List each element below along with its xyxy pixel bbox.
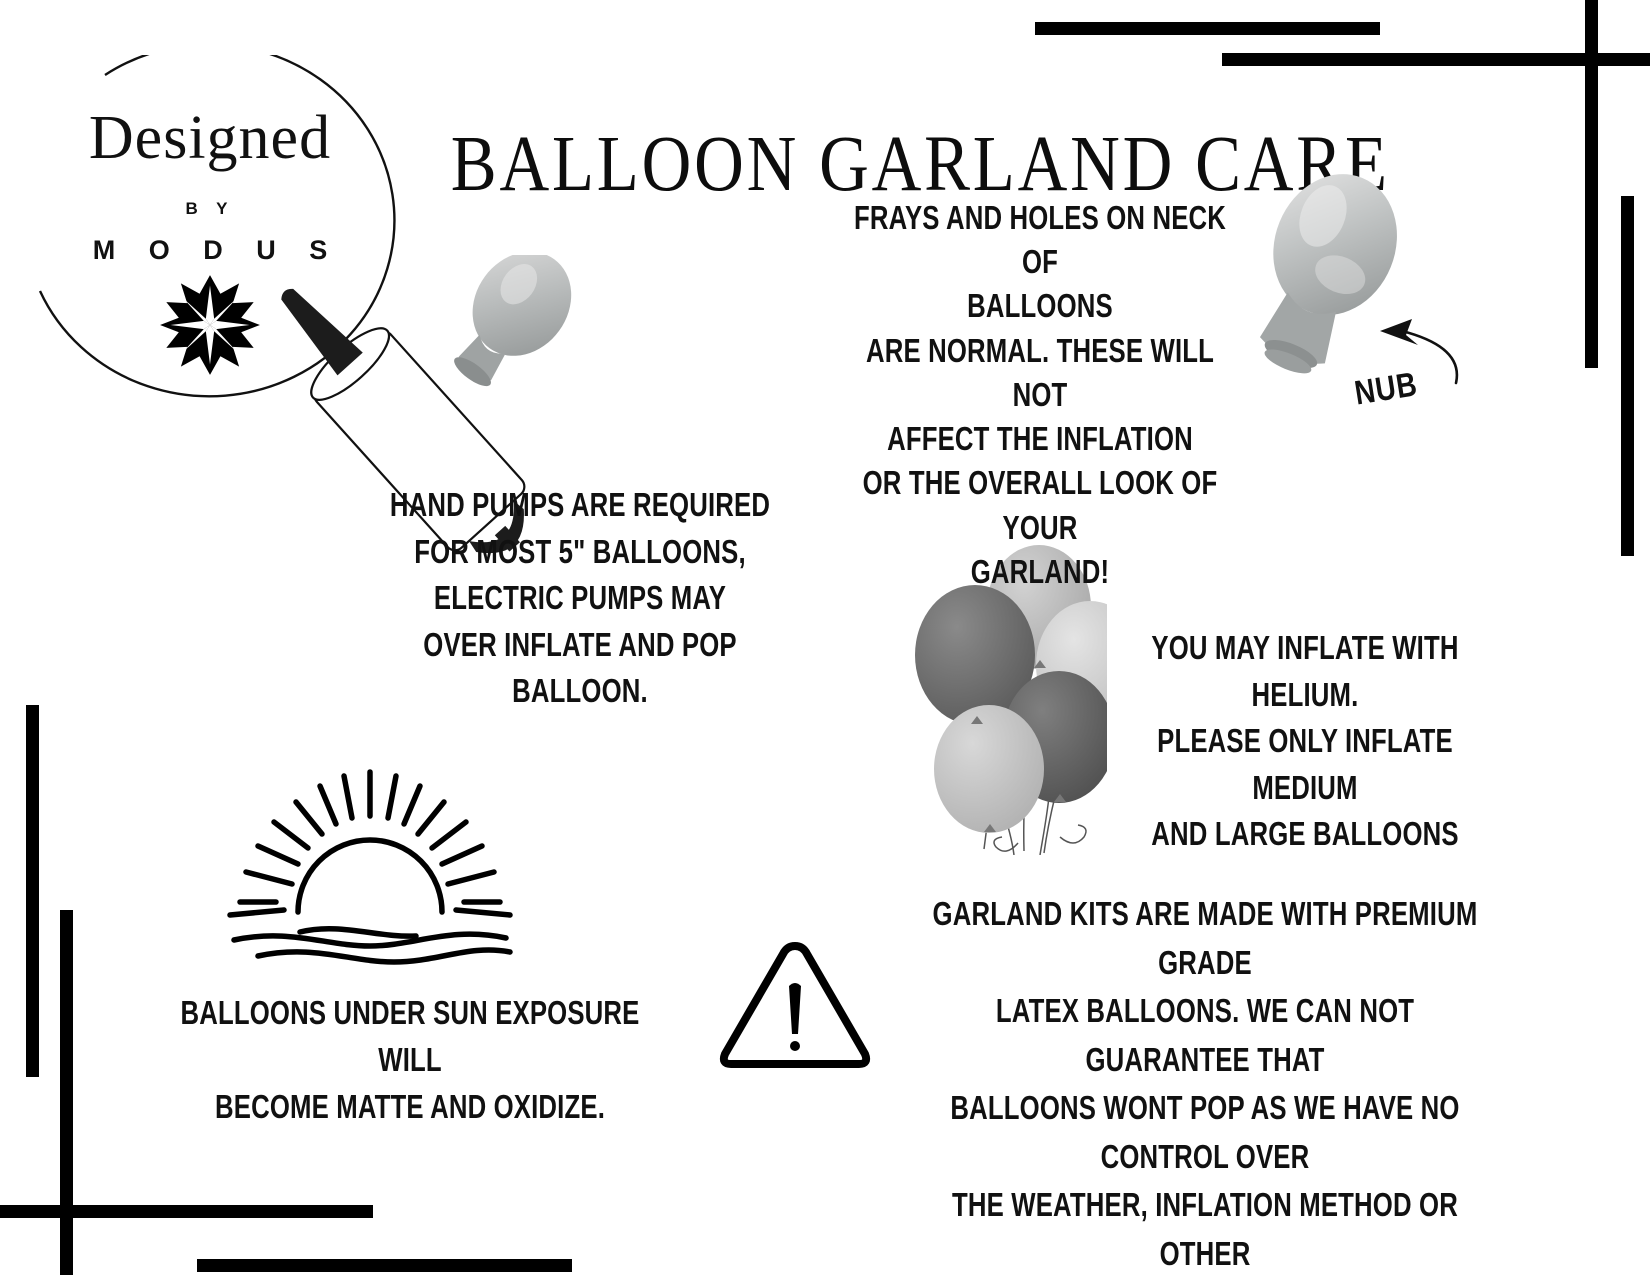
helium-text: YOU MAY INFLATE WITH HELIUM. PLEASE ONLY… <box>1102 625 1508 858</box>
warning-triangle-icon <box>715 930 875 1075</box>
decor-bar-bottom-lower <box>197 1259 572 1272</box>
decor-bar-right-short <box>1621 196 1634 556</box>
frays-text: FRAYS AND HOLES ON NECK OF BALLOONS ARE … <box>853 196 1227 594</box>
nub-label: NUB <box>1352 365 1420 413</box>
logo-by-text: B Y <box>10 199 410 219</box>
decor-bar-bottom-upper <box>0 1205 373 1218</box>
sun-text: BALLOONS UNDER SUN EXPOSURE WILL BECOME … <box>180 990 640 1131</box>
poster-canvas: Designed B Y M O D U S BALLOON GARLAND C… <box>0 0 1650 1275</box>
decor-bar-right-tall <box>1585 0 1598 368</box>
warning-text: GARLAND KITS ARE MADE WITH PREMIUM GRADE… <box>924 890 1486 1275</box>
decor-bar-left-upper <box>26 705 39 1077</box>
decor-bar-top-upper <box>1035 22 1380 35</box>
pump-text: HAND PUMPS ARE REQUIRED FOR MOST 5" BALL… <box>377 482 783 715</box>
sun-over-water-icon <box>210 760 530 975</box>
decor-bar-left-lower <box>60 910 73 1275</box>
page-title: BALLOON GARLAND CARE <box>451 124 1269 204</box>
logo-script-text: Designed <box>10 107 410 169</box>
